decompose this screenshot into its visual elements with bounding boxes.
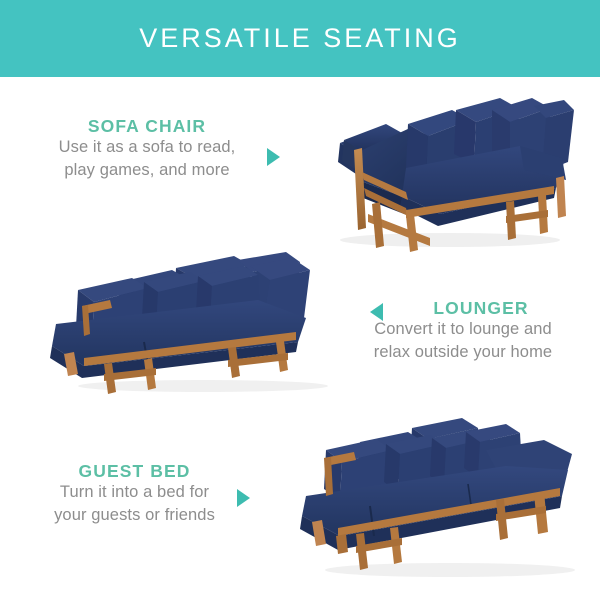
product-image-sofa-chair	[310, 88, 590, 253]
feature-text-sofa-chair: SOFA CHAIR Use it as a sofa to read, pla…	[22, 116, 272, 182]
feature-body-line2: play games, and more	[22, 159, 272, 182]
feature-body-line1: Convert it to lounge and	[374, 320, 552, 338]
infographic-page: VERSATILE SEATING SOFA CHAIR Use it as a…	[0, 0, 600, 589]
product-image-lounger	[48, 246, 348, 396]
page-title: VERSATILE SEATING	[139, 23, 461, 54]
arrow-right-icon-guest-bed	[237, 489, 250, 507]
feature-body-lounger: Convert it to lounge and relax outside y…	[338, 318, 588, 364]
feature-body-line2: your guests or friends	[12, 504, 257, 527]
header-banner: VERSATILE SEATING	[0, 0, 600, 77]
sofa-chair-illustration	[310, 88, 590, 253]
feature-body-line2: relax outside your home	[338, 341, 588, 364]
feature-body-sofa-chair: Use it as a sofa to read, play games, an…	[22, 136, 272, 182]
product-image-guest-bed	[300, 410, 595, 585]
feature-text-guest-bed: GUEST BED Turn it into a bed for your gu…	[12, 461, 257, 527]
feature-heading-guest-bed: GUEST BED	[12, 461, 257, 481]
feature-heading-lounger: LOUNGER	[374, 298, 588, 318]
feature-body-line1: Turn it into a bed for	[60, 483, 209, 501]
feature-body-guest-bed: Turn it into a bed for your guests or fr…	[12, 481, 257, 527]
feature-body-line1: Use it as a sofa to read,	[59, 138, 236, 156]
lounger-illustration	[48, 246, 348, 396]
feature-heading-sofa-chair: SOFA CHAIR	[22, 116, 272, 136]
feature-text-lounger: LOUNGER Convert it to lounge and relax o…	[338, 298, 588, 364]
arrow-right-icon-sofa-chair	[267, 148, 280, 166]
guest-bed-illustration	[300, 410, 595, 585]
